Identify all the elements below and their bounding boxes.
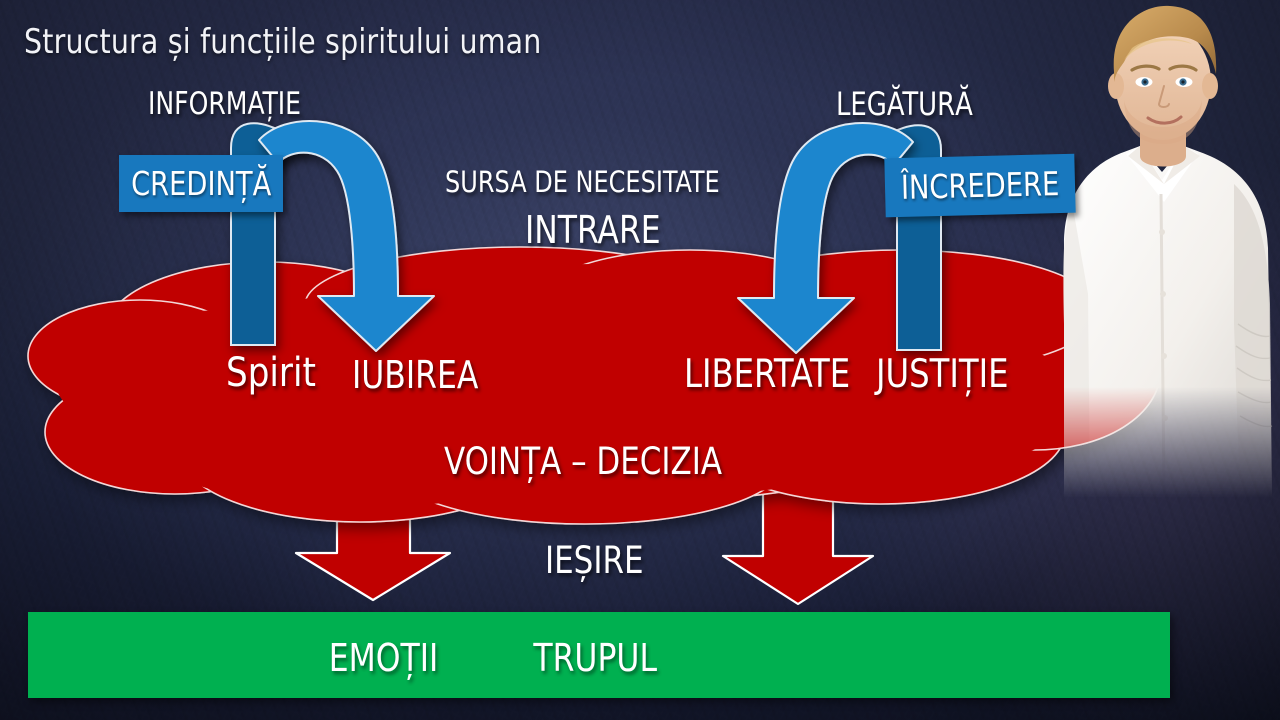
label-iesire: IEȘIRE [545, 539, 644, 582]
label-vointa-decizia: VOINȚA – DECIZIA [444, 440, 722, 483]
label-emotii: EMOȚII [329, 636, 439, 680]
chip-credinta[interactable]: CREDINȚĂ [119, 155, 283, 212]
label-legatura: LEGĂTURĂ [836, 85, 973, 123]
chip-incredere-label: ÎNCREDERE [900, 164, 1059, 207]
chip-credinta-label: CREDINȚĂ [131, 164, 271, 203]
label-intrare: INTRARE [525, 208, 661, 252]
slide-canvas: Structura și funcțiile spiritului uman I… [0, 0, 1280, 720]
label-spirit: Spirit [226, 350, 316, 396]
page-title: Structura și funcțiile spiritului uman [24, 20, 542, 64]
body-bar: EMOȚII TRUPUL [28, 612, 1170, 698]
label-justitie: JUSTIȚIE [876, 352, 1008, 397]
label-informatie: INFORMAȚIE [148, 86, 301, 122]
label-iubirea: IUBIREA [352, 353, 478, 397]
label-trupul: TRUPUL [533, 636, 657, 680]
chip-incredere[interactable]: ÎNCREDERE [884, 154, 1075, 218]
label-libertate: LIBERTATE [684, 352, 850, 397]
label-sursa-de-necesitate: SURSA DE NECESITATE [445, 165, 720, 199]
